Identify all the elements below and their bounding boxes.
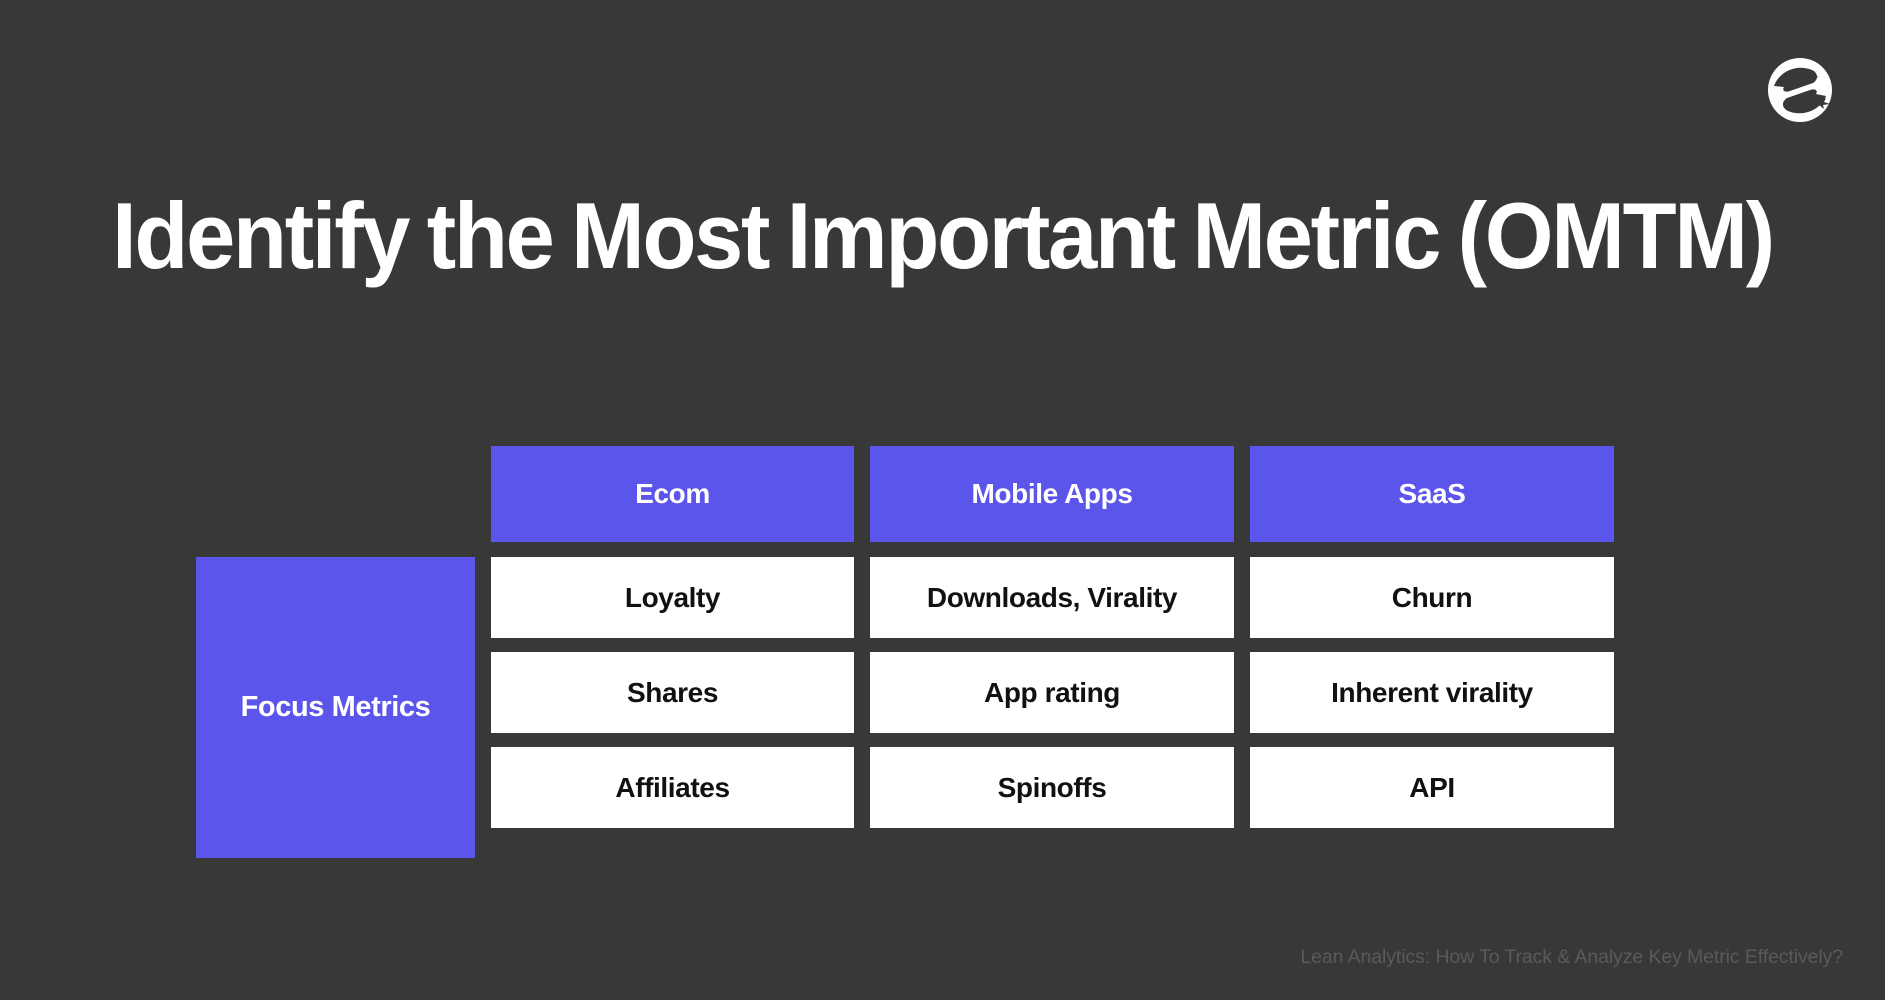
table-corner-cell	[196, 446, 475, 542]
brand-logo-icon	[1766, 56, 1834, 124]
column-header-saas[interactable]: SaaS	[1250, 446, 1614, 542]
cell-saas-churn[interactable]: Churn	[1250, 557, 1614, 638]
cell-ecom-affiliates[interactable]: Affiliates	[491, 747, 854, 828]
row-label-focus-metrics: Focus Metrics	[196, 557, 475, 858]
focus-metrics-table: Ecom Mobile Apps SaaS Focus Metrics Loya…	[196, 446, 1614, 858]
cell-mobile-app-rating[interactable]: App rating	[870, 652, 1234, 733]
cell-mobile-downloads-virality[interactable]: Downloads, Virality	[870, 557, 1234, 638]
column-header-ecom[interactable]: Ecom	[491, 446, 854, 542]
column-header-mobile-apps[interactable]: Mobile Apps	[870, 446, 1234, 542]
cell-mobile-spinoffs[interactable]: Spinoffs	[870, 747, 1234, 828]
cell-saas-inherent-virality[interactable]: Inherent virality	[1250, 652, 1614, 733]
page-title: Identify the Most Important Metric (OMTM…	[57, 188, 1829, 284]
cell-saas-api[interactable]: API	[1250, 747, 1614, 828]
cell-ecom-shares[interactable]: Shares	[491, 652, 854, 733]
footer-caption: Lean Analytics: How To Track & Analyze K…	[1300, 946, 1843, 969]
cell-ecom-loyalty[interactable]: Loyalty	[491, 557, 854, 638]
slide-canvas: Identify the Most Important Metric (OMTM…	[0, 0, 1885, 1000]
